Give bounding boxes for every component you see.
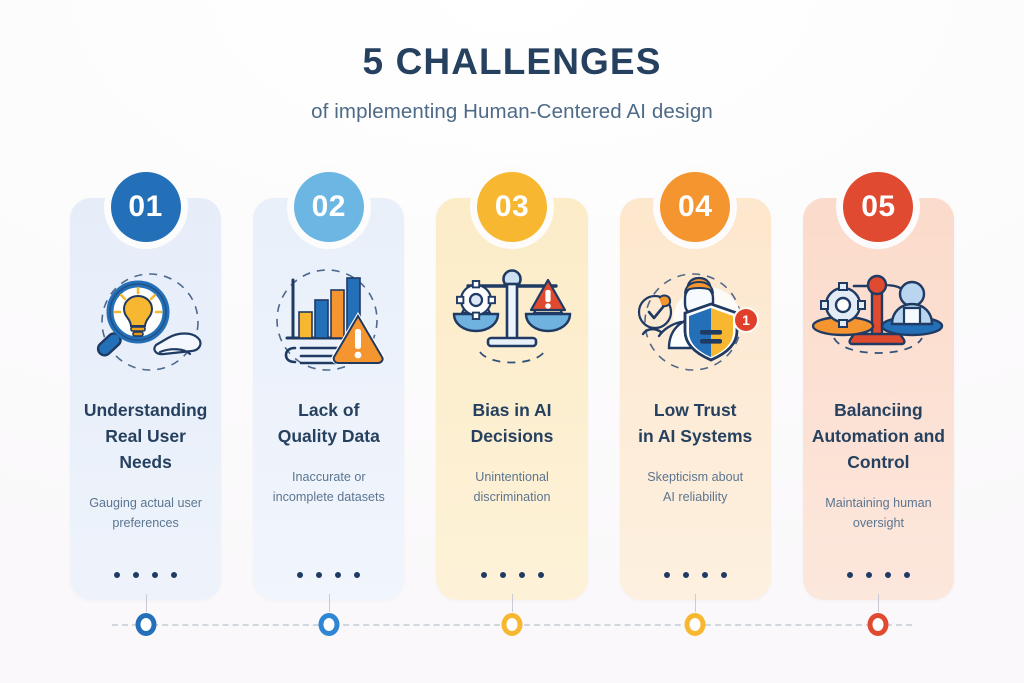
card-number-label: 03: [495, 190, 529, 224]
progress-dot: [538, 572, 544, 578]
card-progress-dots: [253, 572, 404, 578]
timeline-marker-03[interactable]: [502, 613, 523, 636]
infographic-canvas: 5 CHALLENGES of implementing Human-Cente…: [0, 0, 1024, 683]
scale-gear-person-icon: [812, 260, 944, 384]
timeline-stem: [146, 594, 147, 612]
progress-dot: [500, 572, 506, 578]
timeline-stem: [878, 594, 879, 612]
timeline-stem: [695, 594, 696, 612]
progress-dot: [664, 572, 670, 578]
card-number-label: 04: [678, 190, 712, 224]
progress-dot: [316, 572, 322, 578]
card-progress-dots: [70, 572, 221, 578]
progress-dot: [519, 572, 525, 578]
challenge-card-05[interactable]: 05: [803, 198, 954, 600]
card-number-label: 05: [861, 190, 895, 224]
timeline: [0, 600, 1024, 660]
magnifier-lightbulb-icon: [80, 260, 212, 384]
challenge-cards-row: 01 Und: [70, 198, 954, 600]
card-progress-dots: [436, 572, 587, 578]
card-title: Balanciing Automation and Control: [806, 398, 951, 476]
balance-scale-gear-icon: [446, 260, 578, 384]
card-title: Low Trust in AI Systems: [632, 398, 758, 450]
progress-dot: [866, 572, 872, 578]
progress-dot: [354, 572, 360, 578]
card-number-label: 01: [128, 190, 162, 224]
card-title: Bias in AI Decisions: [465, 398, 560, 450]
card-number-label: 02: [312, 190, 346, 224]
progress-dot: [297, 572, 303, 578]
progress-dot: [171, 572, 177, 578]
progress-dot: [702, 572, 708, 578]
progress-dot: [847, 572, 853, 578]
timeline-marker-02[interactable]: [318, 613, 339, 636]
card-title: Lack of Quality Data: [272, 398, 386, 450]
progress-dot: [152, 572, 158, 578]
card-number-badge-01: 01: [111, 172, 181, 242]
timeline-marker-01[interactable]: [135, 613, 156, 636]
card-description: Inaccurate or incomplete datasets: [263, 467, 395, 508]
timeline-marker-04[interactable]: [685, 613, 706, 636]
progress-dot: [683, 572, 689, 578]
card-number-badge-05: 05: [843, 172, 913, 242]
bar-chart-warning-icon: [263, 260, 395, 384]
timeline-marker-05[interactable]: [868, 613, 889, 636]
progress-dot: [335, 572, 341, 578]
challenge-card-04[interactable]: 04: [620, 198, 771, 600]
challenge-card-02[interactable]: 02 Lack of Qualit: [253, 198, 404, 600]
progress-dot: [721, 572, 727, 578]
card-description: Skepticism about AI reliability: [637, 467, 753, 508]
card-description: Gauging actual user preferences: [79, 493, 212, 534]
page-title: 5 CHALLENGES: [0, 42, 1024, 83]
progress-dot: [481, 572, 487, 578]
header: 5 CHALLENGES of implementing Human-Cente…: [0, 42, 1024, 124]
timeline-stem: [512, 594, 513, 612]
card-number-badge-03: 03: [477, 172, 547, 242]
progress-dot: [885, 572, 891, 578]
challenge-card-01[interactable]: 01 Und: [70, 198, 221, 600]
card-number-badge-02: 02: [294, 172, 364, 242]
card-progress-dots: [620, 572, 771, 578]
card-description: Unintentional discrimination: [464, 467, 561, 508]
progress-dot: [114, 572, 120, 578]
person-shield-alert-icon: 1: [629, 260, 761, 384]
challenge-card-03[interactable]: 03: [436, 198, 587, 600]
progress-dot: [133, 572, 139, 578]
card-number-badge-04: 04: [660, 172, 730, 242]
card-progress-dots: [803, 572, 954, 578]
card-title: Understanding Real User Needs: [78, 398, 213, 476]
card-description: Maintaining human oversight: [815, 493, 941, 534]
page-subtitle: of implementing Human-Centered AI design: [0, 100, 1024, 124]
progress-dot: [904, 572, 910, 578]
timeline-stem: [329, 594, 330, 612]
svg-text:1: 1: [742, 312, 750, 328]
